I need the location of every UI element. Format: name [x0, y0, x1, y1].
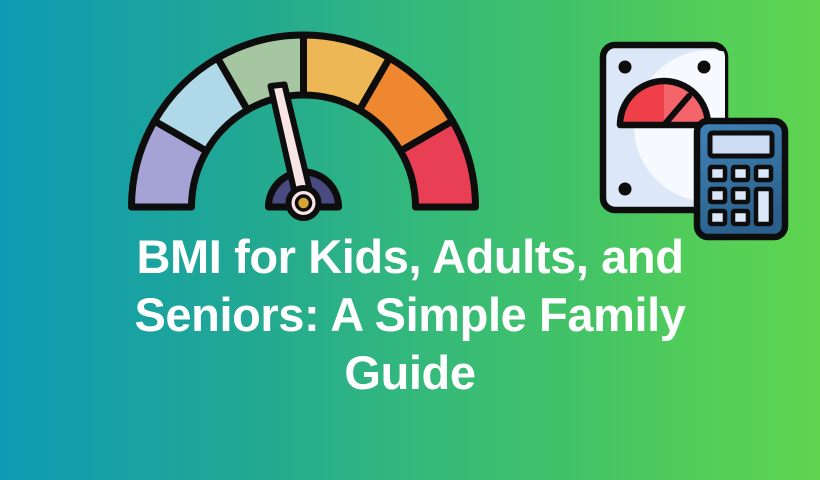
gauge-pivot-dot: [297, 196, 311, 210]
meter-screw-top-right: [698, 61, 711, 74]
meter-screw-bottom-left: [619, 183, 632, 196]
calculator-key[interactable]: [710, 167, 725, 180]
calculator-key[interactable]: [733, 189, 748, 202]
calculator-key[interactable]: [733, 167, 748, 180]
calculator-icon: [697, 121, 785, 237]
bmi-device-icons: [592, 34, 797, 249]
calculator-key[interactable]: [733, 211, 748, 224]
calculator-key[interactable]: [710, 211, 725, 224]
meter-screw-top-left: [619, 61, 632, 74]
calculator-key[interactable]: [710, 189, 725, 202]
banner-canvas: BMI for Kids, Adults, and Seniors: A Sim…: [0, 0, 820, 480]
calculator-key[interactable]: [756, 167, 771, 180]
bmi-gauge-icon: [110, 14, 500, 229]
calculator-display: [710, 133, 772, 156]
title-block: BMI for Kids, Adults, and Seniors: A Sim…: [70, 228, 750, 402]
calculator-key-tall[interactable]: [756, 189, 771, 224]
page-title: BMI for Kids, Adults, and Seniors: A Sim…: [70, 228, 750, 402]
